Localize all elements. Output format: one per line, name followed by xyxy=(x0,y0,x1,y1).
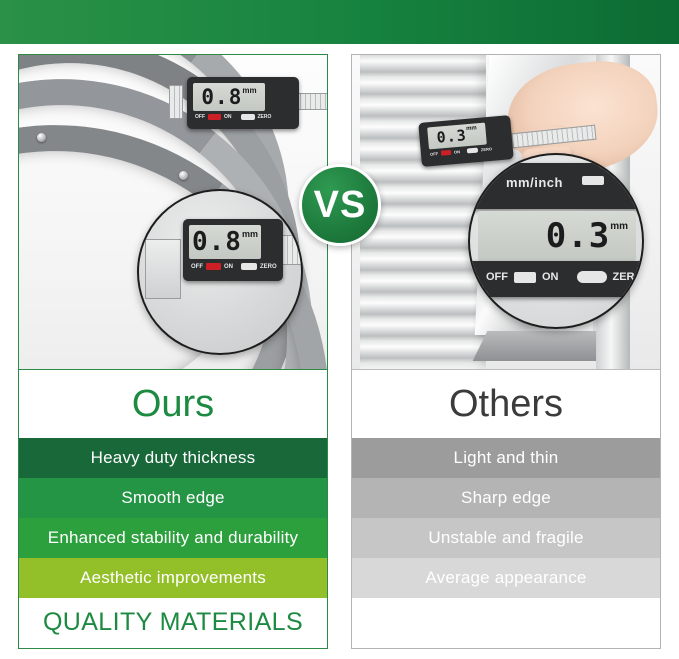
feature-row: Enhanced stability and durability xyxy=(19,518,327,558)
feature-row: Sharp edge xyxy=(352,478,660,518)
caliper-zero-label: ZERO xyxy=(481,146,493,152)
caliper-off-label: OFF xyxy=(191,264,203,270)
feature-row: Average appearance xyxy=(352,558,660,598)
feature-rows-others: Light and thin Sharp edge Unstable and f… xyxy=(352,438,660,648)
caliper-unit: mm xyxy=(242,86,256,95)
feature-row-empty xyxy=(352,598,660,646)
caliper-display: 0.8 mm xyxy=(189,225,261,259)
caliper-top-ours: 0.8 mm OFF ON ZERO xyxy=(167,65,319,143)
caliper-value: 0.8 xyxy=(192,229,242,255)
caliper-buttons: OFF ON ZERO xyxy=(191,263,277,270)
caliper-unit: mm xyxy=(242,229,258,239)
caliper-buttons: OFF ON ZERO xyxy=(195,114,271,120)
caliper-scale xyxy=(511,125,596,149)
bolt-icon xyxy=(179,171,188,180)
magnifier-circle-others: mm/inch 0.3 mm OFF ON ZERO xyxy=(468,153,644,329)
caliper-value: 0.8 xyxy=(201,87,242,108)
caliper-brand-label: mm/inch xyxy=(506,175,563,190)
comparison-columns: 0.8 mm OFF ON ZERO xyxy=(0,44,679,659)
caliper-on-label: ON xyxy=(224,114,232,120)
caliper-zero-switch[interactable] xyxy=(241,263,257,270)
caliper-buttons: OFF ON ZERO xyxy=(486,271,643,283)
feature-row-highlight: QUALITY MATERIALS xyxy=(19,598,327,646)
caliper-zero-label: ZERO xyxy=(260,264,277,270)
caliper-display: 0.3 mm xyxy=(478,211,636,261)
caliper-jaw xyxy=(145,239,181,299)
caliper-on-label: ON xyxy=(224,264,233,270)
column-title-row-ours: Ours xyxy=(19,370,327,438)
caliper-zero-switch[interactable] xyxy=(577,271,607,283)
header-gradient-bar xyxy=(0,0,679,44)
feature-row: Unstable and fragile xyxy=(352,518,660,558)
caliper-value: 0.3 xyxy=(546,219,610,253)
magnifier-circle-ours: 0.8 mm OFF ON ZERO xyxy=(137,189,303,355)
column-others: 0.3 mm OFF ON ZERO mm/inch xyxy=(351,54,661,649)
caliper-jaw xyxy=(169,85,183,119)
caliper-power-switch[interactable] xyxy=(208,114,221,120)
caliper-display: 0.8 mm xyxy=(193,83,265,111)
column-title-row-others: Others xyxy=(352,370,660,438)
caliper-mode-button[interactable] xyxy=(582,176,604,185)
column-ours: 0.8 mm OFF ON ZERO xyxy=(18,54,328,649)
caliper-off-label: OFF xyxy=(486,271,508,283)
caliper-on-label: ON xyxy=(454,149,460,155)
caliper-zero-label: ZERO xyxy=(613,271,644,283)
caliper-power-switch[interactable] xyxy=(514,272,536,283)
vs-badge: VS xyxy=(299,164,381,246)
feature-row: Heavy duty thickness xyxy=(19,438,327,478)
caliper-zero-switch[interactable] xyxy=(241,114,255,120)
caliper-power-switch[interactable] xyxy=(441,150,451,156)
product-photo-others: 0.3 mm OFF ON ZERO mm/inch xyxy=(352,55,660,370)
caliper-zero-label: ZERO xyxy=(258,114,272,120)
caliper-power-switch[interactable] xyxy=(206,263,221,270)
caliper-zero-switch[interactable] xyxy=(467,148,478,154)
column-title-others: Others xyxy=(449,383,563,426)
feature-rows-ours: Heavy duty thickness Smooth edge Enhance… xyxy=(19,438,327,648)
column-title-ours: Ours xyxy=(132,383,214,426)
product-photo-ours: 0.8 mm OFF ON ZERO xyxy=(19,55,327,370)
feature-row: Smooth edge xyxy=(19,478,327,518)
caliper-value: 0.3 xyxy=(436,128,467,146)
comparison-infographic: 0.8 mm OFF ON ZERO xyxy=(0,0,679,659)
caliper-unit: mm xyxy=(610,221,628,232)
feature-row: Aesthetic improvements xyxy=(19,558,327,598)
bolt-icon xyxy=(37,133,46,142)
caliper-off-label: OFF xyxy=(195,114,205,120)
caliper-unit: mm xyxy=(466,125,477,132)
caliper-off-label: OFF xyxy=(430,151,438,157)
feature-row: Light and thin xyxy=(352,438,660,478)
caliper-on-label: ON xyxy=(542,271,559,283)
